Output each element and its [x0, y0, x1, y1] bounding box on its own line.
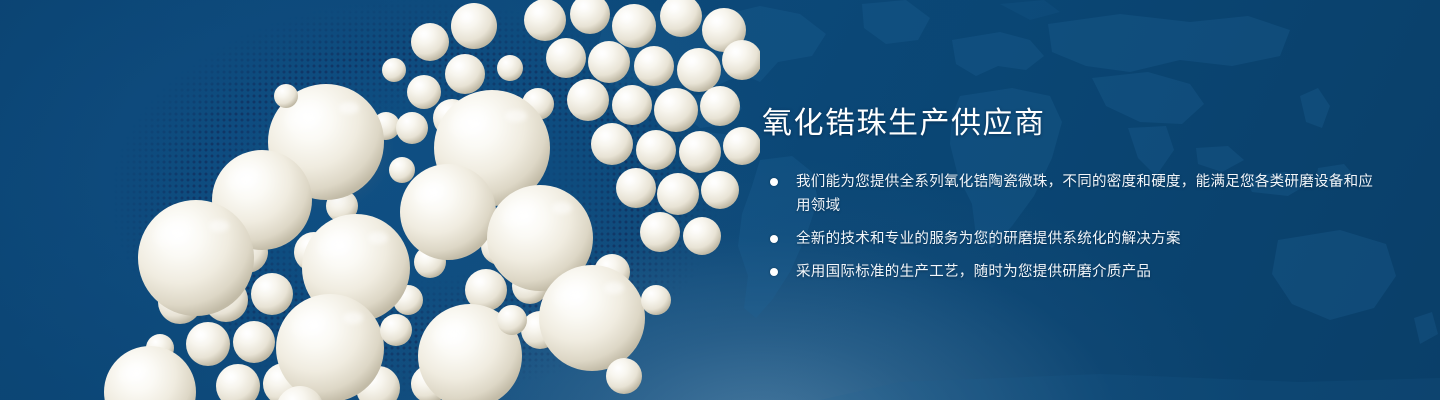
- list-item: 我们能为您提供全系列氧化锆陶瓷微珠，不同的密度和硬度，能满足您各类研磨设备和应用…: [770, 170, 1382, 218]
- list-item-label: 我们能为您提供全系列氧化锆陶瓷微珠，不同的密度和硬度，能满足您各类研磨设备和应用…: [796, 174, 1373, 214]
- page-title: 氧化锆珠生产供应商: [762, 104, 1382, 144]
- bullet-dot-icon: [770, 235, 778, 243]
- hero-banner: 氧化锆珠生产供应商 我们能为您提供全系列氧化锆陶瓷微珠，不同的密度和硬度，能满足…: [0, 0, 1440, 400]
- bullet-dot-icon: [770, 178, 778, 186]
- list-item: 采用国际标准的生产工艺，随时为您提供研磨介质产品: [770, 260, 1382, 284]
- bullet-dot-icon: [770, 268, 778, 276]
- list-item-label: 全新的技术和专业的服务为您的研磨提供系统化的解决方案: [796, 231, 1181, 247]
- list-item-label: 采用国际标准的生产工艺，随时为您提供研磨介质产品: [796, 264, 1151, 280]
- feature-list: 我们能为您提供全系列氧化锆陶瓷微珠，不同的密度和硬度，能满足您各类研磨设备和应用…: [770, 170, 1382, 284]
- list-item: 全新的技术和专业的服务为您的研磨提供系统化的解决方案: [770, 227, 1382, 251]
- hero-copy: 氧化锆珠生产供应商 我们能为您提供全系列氧化锆陶瓷微珠，不同的密度和硬度，能满足…: [762, 104, 1382, 284]
